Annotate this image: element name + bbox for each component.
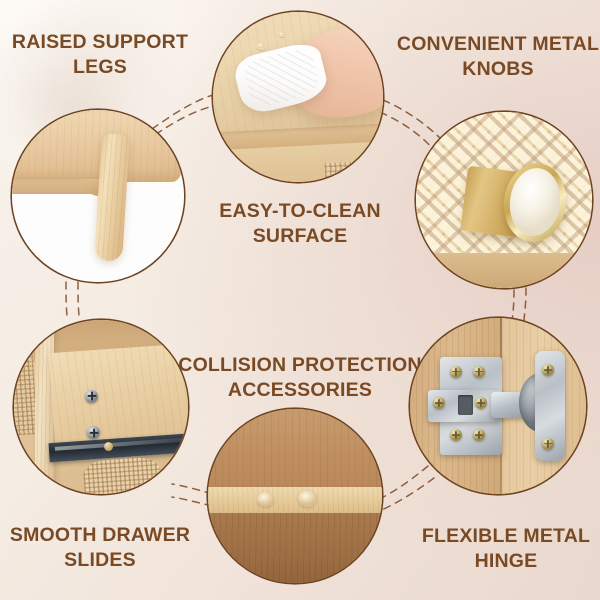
feature-photo-smooth-drawer-slides — [14, 320, 188, 494]
photo-wiping-surface — [213, 12, 383, 182]
feature-label-easy-to-clean-surface: EASY-TO-CLEAN SURFACE — [198, 199, 402, 249]
photo-bumper-pad — [257, 492, 274, 507]
feature-label-smooth-drawer-slides: SMOOTH DRAWER SLIDES — [0, 523, 200, 573]
feature-label-flexible-metal-hinge: FLEXIBLE METAL HINGE — [412, 524, 600, 574]
infographic-canvas: RAISED SUPPORT LEGS EASY-TO-CLEAN SURFAC… — [0, 0, 600, 600]
photo-hinge-slot — [458, 395, 474, 414]
photo-hinge-screw — [473, 366, 485, 378]
photo-hinge-screw — [542, 364, 554, 376]
feature-photo-flexible-metal-hinge — [410, 318, 586, 494]
photo-screw — [85, 390, 98, 403]
photo-hinge-screw — [433, 397, 445, 409]
photo-bumper-pads — [208, 409, 382, 583]
feature-photo-raised-support-legs — [12, 110, 184, 282]
feature-label-raised-support-legs: RAISED SUPPORT LEGS — [0, 30, 200, 80]
photo-cabinet-hinge — [410, 318, 586, 494]
photo-hinge-screw — [450, 366, 462, 378]
photo-metal-knob — [416, 112, 592, 288]
feature-photo-convenient-metal-knobs — [416, 112, 592, 288]
feature-label-collision-protection-accessories: COLLISION PROTECTION ACCESSORIES — [175, 353, 425, 403]
photo-wooden-leg — [12, 110, 184, 282]
photo-drawer-slide — [14, 320, 188, 494]
feature-photo-easy-to-clean-surface — [213, 12, 383, 182]
feature-label-convenient-metal-knobs: CONVENIENT METAL KNOBS — [396, 32, 600, 82]
feature-photo-collision-protection-accessories — [208, 409, 382, 583]
photo-hinge-screw — [542, 438, 554, 450]
